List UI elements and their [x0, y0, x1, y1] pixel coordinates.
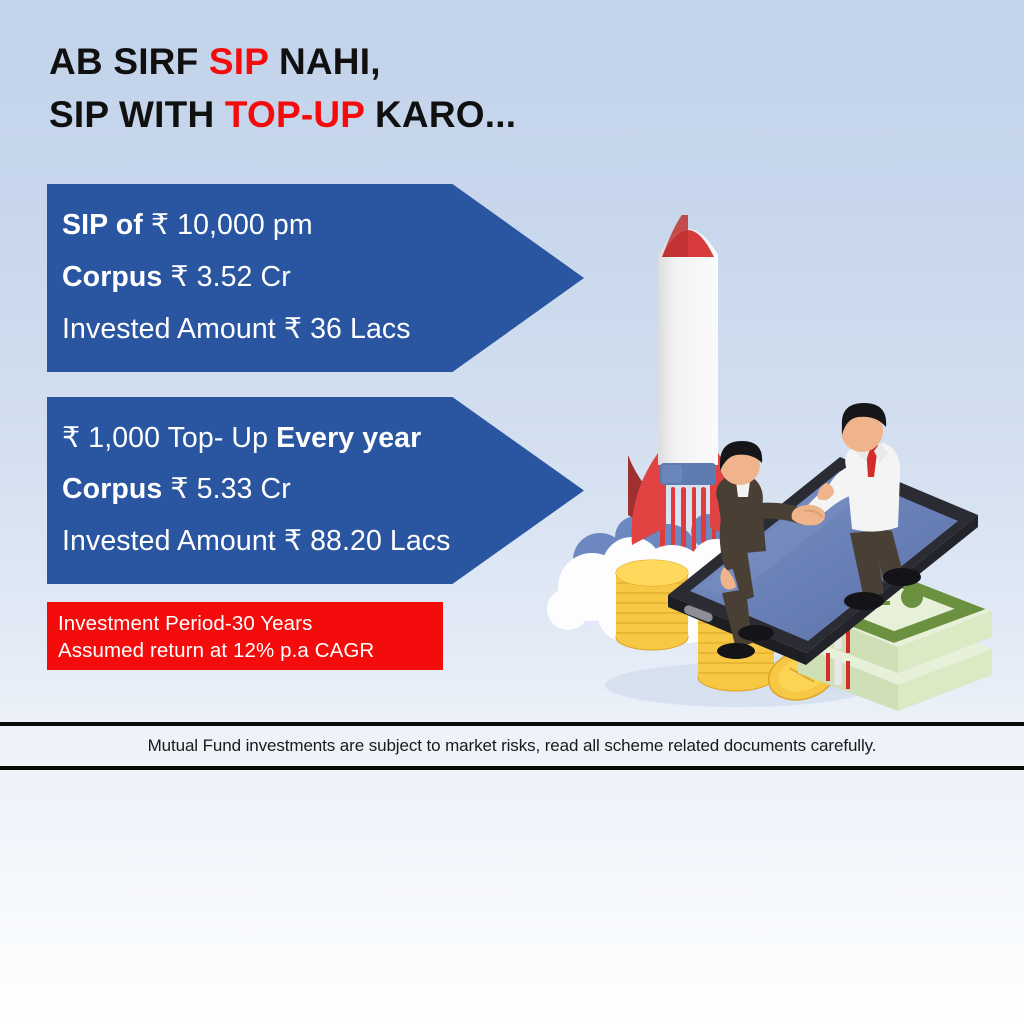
- banner-topup-sip-line-3: Invested Amount ₹ 88.20 Lacs: [62, 516, 482, 568]
- handshake-hands: [792, 505, 825, 526]
- banner-topup-sip-line-2: Corpus ₹ 5.33 Cr: [62, 465, 482, 517]
- note-line-assumed-return: Assumed return at 12% p.a CAGR: [58, 637, 443, 664]
- headline-line1-part1: AB SIRF: [49, 41, 209, 82]
- disclaimer-rule-bottom: [0, 766, 1024, 770]
- rocket-body: [658, 229, 718, 465]
- banner-plain-sip-line3-rest: Invested Amount ₹ 36 Lacs: [62, 313, 411, 345]
- banner-plain-sip-line-3: Invested Amount ₹ 36 Lacs: [62, 304, 482, 356]
- banner-topup-sip-lines: ₹ 1,000 Top- Up Every year Corpus ₹ 5.33…: [62, 413, 482, 569]
- banner-topup-sip: ₹ 1,000 Top- Up Every year Corpus ₹ 5.33…: [47, 397, 584, 584]
- headline-line-2: SIP WITH TOP-UP KARO...: [49, 89, 669, 142]
- left-shoe-back: [738, 625, 774, 641]
- banner-topup-sip-line2-bold: Corpus: [62, 474, 162, 506]
- left-shoe-front: [717, 643, 755, 659]
- banner-plain-sip-line2-rest: ₹ 3.52 Cr: [162, 261, 290, 293]
- banner-topup-sip-line1-pre: ₹ 1,000 Top- Up: [62, 422, 276, 454]
- note-line-investment-period: Investment Period-30 Years: [58, 610, 443, 637]
- headline-line1-part2: NAHI,: [268, 41, 380, 82]
- infographic-poster: AB SIRF SIP NAHI, SIP WITH TOP-UP KARO..…: [0, 0, 1024, 1024]
- banner-topup-sip-line1-bold-tail: Every year: [276, 422, 421, 454]
- headline-line-1: AB SIRF SIP NAHI,: [49, 36, 669, 89]
- assumptions-note-box: Investment Period-30 Years Assumed retur…: [47, 602, 443, 670]
- banner-topup-sip-line2-rest: ₹ 5.33 Cr: [162, 474, 290, 506]
- right-shoe-front: [844, 592, 884, 610]
- page-title: AB SIRF SIP NAHI, SIP WITH TOP-UP KARO..…: [49, 36, 669, 141]
- banner-plain-sip-lines: SIP of ₹ 10,000 pm Corpus ₹ 3.52 Cr Inve…: [62, 200, 482, 356]
- banner-plain-sip-line-2: Corpus ₹ 3.52 Cr: [62, 252, 482, 304]
- banner-topup-sip-line-1: ₹ 1,000 Top- Up Every year: [62, 413, 482, 465]
- banner-plain-sip-line-1: SIP of ₹ 10,000 pm: [62, 200, 482, 252]
- banner-plain-sip-line2-bold: Corpus: [62, 261, 162, 293]
- banner-plain-sip-line1-rest: ₹ 10,000 pm: [143, 209, 313, 241]
- banner-plain-sip-line1-bold: SIP of: [62, 209, 143, 241]
- banner-topup-sip-line3-rest: Invested Amount ₹ 88.20 Lacs: [62, 525, 451, 557]
- headline-line1-accent: SIP: [209, 41, 269, 82]
- headline-line2-part1: SIP WITH: [49, 94, 225, 135]
- headline-line2-accent: TOP-UP: [225, 94, 365, 135]
- right-shoe-back: [883, 568, 921, 586]
- disclaimer-text: Mutual Fund investments are subject to m…: [0, 726, 1024, 766]
- headline-line2-part2: KARO...: [365, 94, 517, 135]
- banner-plain-sip: SIP of ₹ 10,000 pm Corpus ₹ 3.52 Cr Inve…: [47, 184, 584, 372]
- rocket-handshake-illustration: SIP TOP-UP: [540, 215, 1024, 725]
